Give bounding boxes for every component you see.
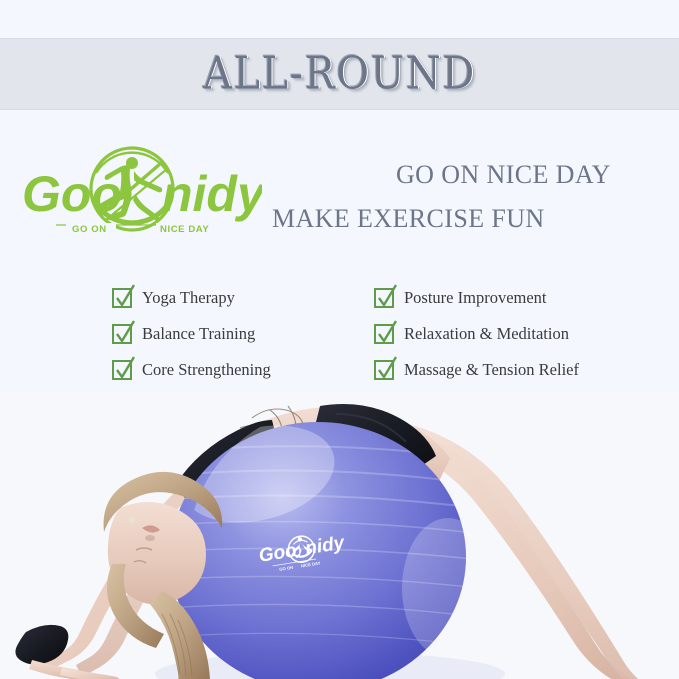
slogan-line-2: MAKE EXERCISE FUN <box>272 204 545 234</box>
feature-label: Relaxation & Meditation <box>404 324 569 344</box>
logo-text-right: nidy <box>162 166 262 222</box>
feature-label: Massage & Tension Relief <box>404 360 579 380</box>
header-band: ALL-ROUND <box>0 38 679 110</box>
checkbox-checked-icon <box>374 288 394 308</box>
feature-item: Posture Improvement <box>374 280 624 316</box>
earring-icon <box>129 517 135 523</box>
product-info-graphic: ALL-ROUND Goo <box>0 0 679 679</box>
feature-label: Yoga Therapy <box>142 288 235 308</box>
logo-text-left: Goo <box>22 166 122 222</box>
feature-item: Yoga Therapy <box>112 280 362 316</box>
brand-logo-graphic: Goo nidy GO ON NICE DAY GO ON NICE DAY <box>22 143 262 245</box>
page-title: ALL-ROUND <box>203 48 476 100</box>
feature-label: Core Strengthening <box>142 360 271 380</box>
checkbox-checked-icon <box>374 324 394 344</box>
feature-item: Core Strengthening <box>112 352 362 388</box>
product-photo: Goo nidy GO ON NICE DAY <box>0 392 679 679</box>
feature-item: Balance Training <box>112 316 362 352</box>
logo-tagline-right-top: NICE DAY <box>160 224 209 235</box>
checkbox-checked-icon <box>374 360 394 380</box>
feature-label: Posture Improvement <box>404 288 547 308</box>
feature-label: Balance Training <box>142 324 255 344</box>
logo-tagline-left-top: GO ON <box>72 224 107 235</box>
product-photo-illustration: Goo nidy GO ON NICE DAY <box>0 392 679 679</box>
checkbox-checked-icon <box>112 360 132 380</box>
feature-item: Relaxation & Meditation <box>374 316 624 352</box>
checkbox-checked-icon <box>112 324 132 344</box>
feature-item: Massage & Tension Relief <box>374 352 624 388</box>
checkbox-checked-icon <box>112 288 132 308</box>
brand-logo: Goo nidy GO ON NICE DAY GO ON NICE DAY <box>22 143 262 245</box>
feature-list: Yoga Therapy Posture Improvement Balance… <box>112 280 632 388</box>
slogan-line-1: GO ON NICE DAY <box>396 160 611 190</box>
